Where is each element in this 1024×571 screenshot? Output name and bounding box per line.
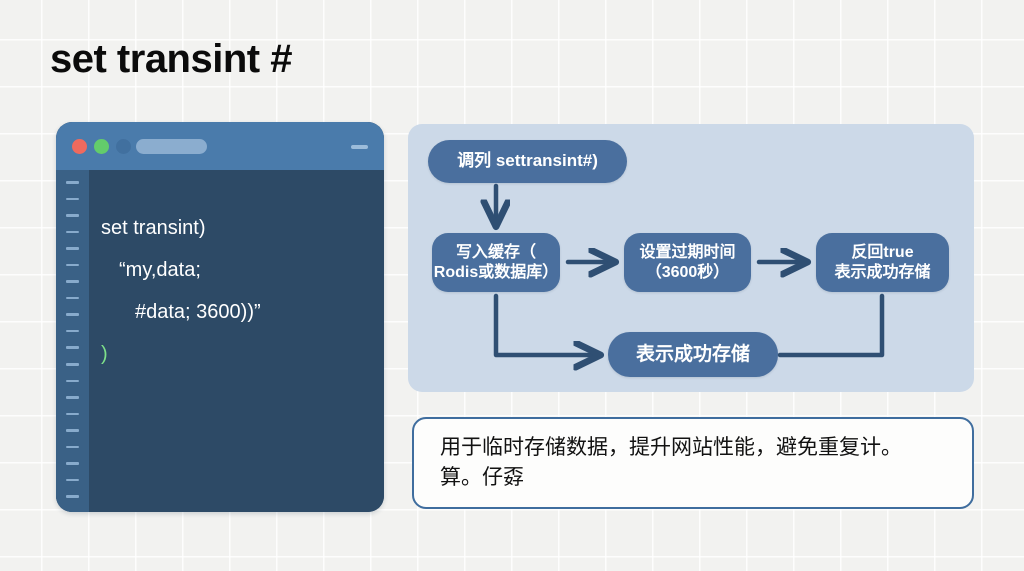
line-number-mark (66, 280, 79, 283)
line-number-mark (66, 181, 79, 184)
line-number-mark (66, 363, 79, 366)
line-number-mark (66, 380, 79, 383)
flow-node-write-cache-line1: 写入缓存（ (456, 243, 536, 263)
flow-node-start-label: 调列 settransint#) (457, 151, 598, 172)
line-number-mark (66, 446, 79, 449)
flow-node-write-cache-line2: Rodis或数据库） (434, 263, 558, 283)
page-background: set transint # (0, 0, 1024, 571)
flow-node-return-true-line1: 反回true (851, 243, 913, 263)
line-number-mark (66, 429, 79, 432)
flow-node-start[interactable]: 调列 settransint#) (428, 140, 627, 183)
code-line-number-gutter (56, 170, 89, 512)
code-content[interactable]: set transint) “my,data; #data; 3600))” ) (89, 170, 384, 512)
flow-node-success[interactable]: 表示成功存储 (608, 332, 778, 377)
line-number-mark (66, 330, 79, 333)
connector-cache-to-success (496, 296, 598, 355)
line-number-mark (66, 198, 79, 201)
code-line: “my,data; (101, 260, 372, 280)
flowchart-panel: 调列 settransint#) 写入缓存（ Rodis或数据库） 设置过期时间… (408, 124, 974, 392)
line-number-mark (66, 346, 79, 349)
close-dot-icon[interactable] (72, 139, 87, 154)
caption-line-2: 算。仔孬 (440, 463, 950, 493)
code-window-titlebar (56, 122, 384, 170)
minimize-dot-icon[interactable] (116, 139, 131, 154)
line-number-mark (66, 413, 79, 416)
line-number-mark (66, 264, 79, 267)
flow-node-return-true-line2: 表示成功存储 (834, 263, 930, 283)
code-window: set transint) “my,data; #data; 3600))” ) (56, 122, 384, 512)
code-line: set transint) (101, 218, 372, 238)
caption-line-1: 用于临时存储数据，提升网站性能，避免重复计。 (440, 433, 950, 463)
flow-node-write-cache[interactable]: 写入缓存（ Rodis或数据库） (432, 233, 560, 292)
line-number-mark (66, 231, 79, 234)
connector-return-to-success (780, 296, 882, 355)
flow-node-success-label: 表示成功存储 (636, 343, 750, 366)
line-number-mark (66, 396, 79, 399)
maximize-dot-icon[interactable] (94, 139, 109, 154)
window-minimize-icon[interactable] (351, 145, 368, 149)
address-bar-pill[interactable] (136, 139, 207, 154)
line-number-mark (66, 247, 79, 250)
code-line: #data; 3600))” (101, 302, 372, 322)
flow-node-set-expiry-line2: （3600秒） (646, 263, 730, 283)
flow-node-set-expiry[interactable]: 设置过期时间 （3600秒） (624, 233, 751, 292)
line-number-mark (66, 479, 79, 482)
line-number-mark (66, 313, 79, 316)
line-number-mark (66, 297, 79, 300)
line-number-mark (66, 495, 79, 498)
code-window-body: set transint) “my,data; #data; 3600))” ) (56, 170, 384, 512)
caption-box: 用于临时存储数据，提升网站性能，避免重复计。 算。仔孬 (412, 417, 974, 509)
flow-node-return-true[interactable]: 反回true 表示成功存储 (816, 233, 949, 292)
code-line: ) (101, 344, 372, 364)
flow-node-set-expiry-line1: 设置过期时间 (639, 243, 735, 263)
line-number-mark (66, 462, 79, 465)
page-title: set transint # (50, 37, 292, 81)
line-number-mark (66, 214, 79, 217)
